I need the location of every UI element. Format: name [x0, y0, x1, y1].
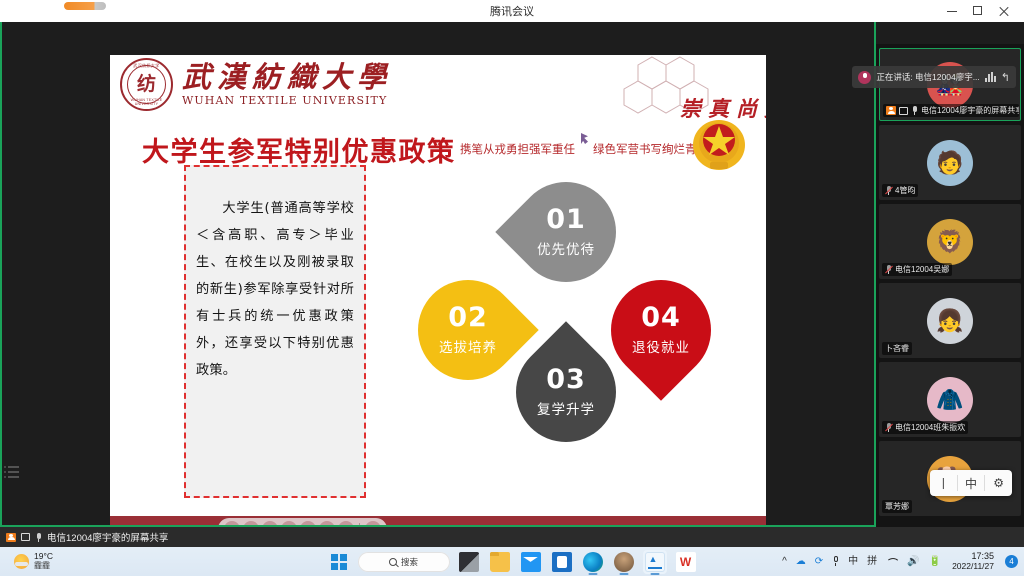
petal-03-number: 03	[546, 366, 586, 393]
participant-name: 电信12004班朱振欢	[895, 422, 965, 433]
close-button[interactable]	[998, 5, 1010, 17]
edge-icon	[583, 552, 603, 572]
notification-badge[interactable]: 4	[1005, 555, 1018, 568]
wifi-icon[interactable]	[886, 557, 898, 566]
petal-01: 01 优先优待	[495, 161, 636, 302]
avatar: 🧑	[927, 140, 973, 186]
user-profile-button[interactable]	[612, 550, 636, 574]
edge-browser-button[interactable]	[581, 550, 605, 574]
tencent-meeting-icon	[645, 552, 665, 572]
participant-label: 4管昀	[882, 184, 918, 197]
speaking-now-text: 正在讲话: 电信12004廖宇...	[876, 71, 979, 83]
file-explorer-button[interactable]	[488, 550, 512, 574]
battery-icon[interactable]: 🔋	[929, 557, 941, 567]
participant-label: 电信12004班朱振欢	[882, 421, 968, 434]
university-seal-icon: 武汉纺织大学 纺 WUHAN TEXTILE UNIVERSITY	[120, 58, 173, 111]
meeting-window-titlebar: 腾讯会议	[0, 0, 1024, 22]
mouse-cursor-icon	[581, 133, 588, 144]
participant-name: 4管昀	[895, 185, 915, 196]
task-view-button[interactable]	[457, 550, 481, 574]
update-icon[interactable]: ⟳	[815, 557, 823, 567]
participant-name: 电信12004吴娜	[895, 264, 949, 275]
policy-text: 大学生(普通高等学校＜含高职、高专＞毕业生、在校生以及刚被录取的新生)参军除享受…	[196, 195, 354, 384]
onedrive-icon[interactable]: ☁	[796, 557, 806, 567]
university-name-en: WUHAN TEXTILE UNIVERSITY	[182, 94, 392, 107]
speaking-microphone-icon	[858, 71, 871, 84]
microphone-icon	[35, 533, 42, 542]
ime-cursor-indicator: 丨	[930, 475, 957, 492]
petal-02-label: 选拔培养	[439, 336, 497, 356]
shared-slide[interactable]: 武汉纺织大学 纺 WUHAN TEXTILE UNIVERSITY 武漢紡織大學…	[110, 55, 766, 551]
screen-share-icon	[899, 107, 908, 115]
microphone-icon[interactable]	[832, 556, 839, 567]
clock-date: 2022/11/27	[952, 562, 994, 572]
participant-label: 电信12004吴娜	[882, 263, 952, 276]
university-logo-row: 武汉纺织大学 纺 WUHAN TEXTILE UNIVERSITY 武漢紡織大學…	[120, 58, 392, 111]
microsoft-store-button[interactable]	[550, 550, 574, 574]
seal-glyph: 纺	[137, 75, 156, 94]
search-placeholder: 搜索	[401, 556, 418, 568]
microphone-muted-icon	[885, 186, 892, 195]
windows-logo-icon	[331, 554, 347, 570]
host-icon	[886, 106, 896, 115]
ime-mode-indicator[interactable]: 拼	[867, 557, 877, 567]
microphone-muted-icon	[885, 265, 892, 274]
wps-office-icon: W	[676, 552, 696, 572]
petal-04-number: 04	[641, 304, 681, 331]
windows-taskbar[interactable]: 19°C 霾霾 搜索	[0, 547, 1024, 576]
start-button[interactable]	[327, 550, 351, 574]
petal-03-label: 复学升学	[537, 398, 595, 418]
list-menu-icon[interactable]	[4, 466, 22, 484]
file-explorer-icon	[490, 552, 510, 572]
avatar: 🧥	[927, 377, 973, 423]
participant-tile[interactable]: 🦁 电信12004吴娜	[879, 204, 1021, 279]
system-tray[interactable]: ^ ☁ ⟳ 中 拼 🔊 🔋 17:35 2022/11/27 4	[782, 547, 1018, 576]
tencent-meeting-button[interactable]	[643, 550, 667, 574]
gear-icon[interactable]: ⚙	[985, 476, 1012, 490]
clock-widget[interactable]: 17:35 2022/11/27	[952, 551, 994, 571]
university-name-cn: 武漢紡織大學	[182, 62, 392, 92]
orange-progress-pill	[64, 2, 106, 10]
wps-office-button[interactable]: W	[674, 550, 698, 574]
host-icon	[6, 533, 16, 542]
participant-label: 电信12004廖宇豪的屏幕共享	[883, 104, 1019, 117]
mail-button[interactable]	[519, 550, 543, 574]
petal-01-label: 优先优待	[537, 238, 595, 258]
slide-title: 大学生参军特别优惠政策	[142, 130, 456, 169]
user-avatar-icon	[614, 552, 634, 572]
audio-wave-icon	[985, 72, 996, 82]
tray-overflow-chevron-icon[interactable]: ^	[782, 557, 787, 567]
participant-tile[interactable]: 🧑 4管昀	[879, 125, 1021, 200]
petal-04-label: 退役就业	[632, 336, 690, 356]
military-emblem-icon	[690, 113, 748, 173]
ime-floating-popup[interactable]: 丨 中 ⚙	[930, 470, 1012, 496]
participant-name: 覃芳娜	[885, 501, 909, 512]
meeting-workspace: 武汉纺织大学 纺 WUHAN TEXTILE UNIVERSITY 武漢紡織大學…	[0, 22, 1024, 527]
sub-slogan-left: 携笔从戎勇担强军重任	[460, 141, 575, 157]
avatar: 👧	[927, 298, 973, 344]
participant-label: 覃芳娜	[882, 500, 912, 513]
seal-bottom-text: WUHAN TEXTILE UNIVERSITY	[122, 98, 171, 106]
slide-sub-slogans: 携笔从戎勇担强军重任 绿色军营书写绚烂青春	[460, 141, 708, 157]
search-icon	[389, 558, 397, 566]
microphone-icon	[911, 106, 918, 115]
four-petal-diagram: 01 优先优待 02 选拔培养 03 复学升学	[398, 182, 738, 447]
microsoft-store-icon	[552, 552, 572, 572]
window-controls	[946, 0, 1020, 22]
seal-top-text: 武汉纺织大学	[122, 63, 171, 69]
participant-tile[interactable]: 👧 卜吝睿	[879, 283, 1021, 358]
participant-label: 卜吝睿	[882, 342, 912, 355]
petal-01-number: 01	[546, 206, 586, 233]
participant-name: 电信12004廖宇豪的屏幕共享	[921, 105, 1019, 116]
volume-icon[interactable]: 🔊	[907, 557, 919, 567]
participant-tile[interactable]: 🧥 电信12004班朱振欢	[879, 362, 1021, 437]
avatar: 🦁	[927, 219, 973, 265]
taskbar-search-box[interactable]: 搜索	[358, 552, 450, 572]
share-status-bar: 电信12004廖宇豪的屏幕共享	[0, 527, 1024, 547]
microphone-muted-icon	[885, 423, 892, 432]
screen-share-icon	[21, 533, 30, 541]
task-view-icon	[459, 552, 479, 572]
policy-text-box: 大学生(普通高等学校＜含高职、高专＞毕业生、在校生以及刚被录取的新生)参军除享受…	[184, 165, 366, 498]
speaking-now-banner: 正在讲话: 电信12004廖宇... ↰	[852, 66, 1016, 88]
minimize-button[interactable]	[946, 5, 958, 17]
return-arrow-icon[interactable]: ↰	[1001, 71, 1010, 84]
ime-mode-button[interactable]: 中	[958, 475, 985, 492]
share-status-text: 电信12004廖宇豪的屏幕共享	[47, 530, 168, 544]
mail-icon	[521, 552, 541, 572]
participant-name: 卜吝睿	[885, 343, 909, 354]
ime-language-indicator[interactable]: 中	[848, 557, 858, 567]
window-title: 腾讯会议	[490, 3, 534, 19]
maximize-button[interactable]	[972, 5, 984, 17]
petal-02-number: 02	[448, 304, 488, 331]
